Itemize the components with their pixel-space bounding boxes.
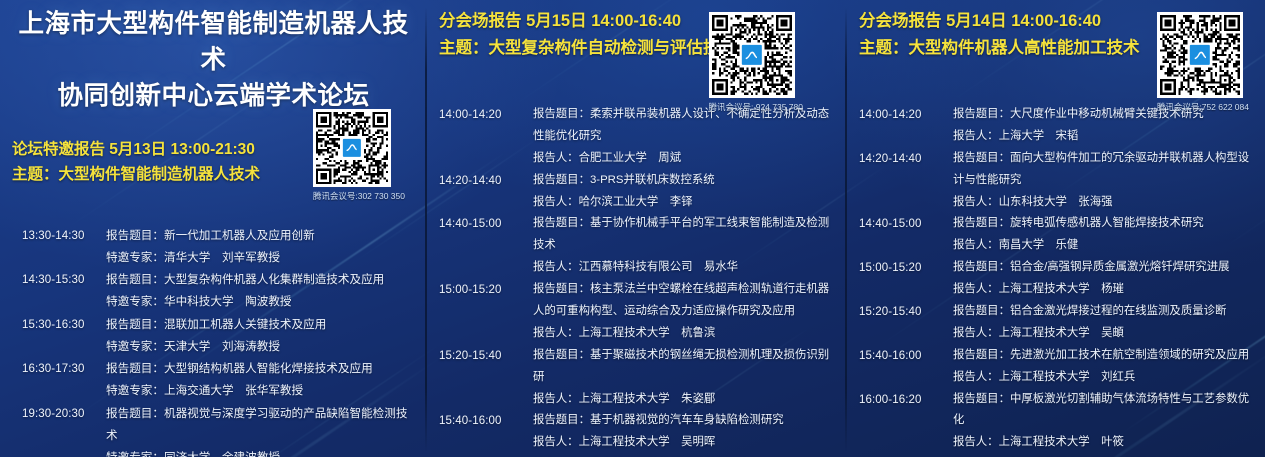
schedule-topic: 报告题目：铝合金/高强钢异质金属激光熔钎焊研究进展 [953,257,1257,279]
qr-code-mid[interactable] [709,12,795,98]
schedule-topic: 报告题目：中厚板激光切割辅助气体流场特性与工艺参数优化 [953,389,1257,433]
schedule-topic: 报告题目：新一代加工机器人及应用创新 [106,225,415,247]
schedule-row: 15:00-15:20报告题目：铝合金/高强钢异质金属激光熔钎焊研究进展报告人：… [859,257,1257,301]
schedule-row: 19:30-20:30报告题目：机器视觉与深度学习驱动的产品缺陷智能检测技术特邀… [12,403,415,457]
schedule-speaker: 报告人：江西慕特科技有限公司 易水华 [533,257,835,279]
right-qr-block: 腾讯会议号:752 622 084 [1157,12,1249,113]
schedule-topic: 报告题目：基于机器视觉的汽车车身缺陷检测研究 [533,410,835,432]
panel-divider-left [425,8,427,451]
schedule-time: 15:30-16:30 [12,314,98,336]
schedule-body: 报告题目：大型复杂构件机器人化集群制造技术及应用特邀专家：华中科技大学 陶波教授 [98,269,415,314]
schedule-row: 14:40-15:00报告题目：旋转电弧传感机器人智能焊接技术研究报告人：南昌大… [859,213,1257,257]
schedule-speaker: 特邀专家：清华大学 刘辛军教授 [106,247,415,269]
schedule-time: 15:40-16:00 [439,410,527,432]
mid-meeting-id: 腾讯会议号: 924 735 780 [709,101,804,113]
schedule-speaker: 报告人：上海工程技术大学 杨璀 [953,279,1257,301]
schedule-row: 14:00-14:20报告题目：柔索并联吊装机器人设计、不确定性分析及动态性能优… [439,104,835,170]
schedule-body: 报告题目：面向大型构件加工的冗余驱动并联机器人构型设计与性能研究报告人：山东科技… [947,148,1257,214]
schedule-body: 报告题目：铝合金/高强钢异质金属激光熔钎焊研究进展报告人：上海工程技术大学 杨璀 [947,257,1257,301]
qr-code-right[interactable] [1157,12,1243,98]
schedule-time: 15:20-15:40 [859,301,947,323]
schedule-body: 报告题目：基于聚磁技术的钢丝绳无损检测机理及损伤识别研报告人：上海工程技术大学 … [527,345,835,411]
schedule-speaker: 报告人：哈尔滨工业大学 李铎 [533,192,835,214]
schedule-time: 15:40-16:00 [859,345,947,367]
schedule-speaker: 特邀专家：华中科技大学 陶波教授 [106,291,415,313]
mid-qr-block: 腾讯会议号: 924 735 780 [709,12,804,113]
schedule-topic: 报告题目：核主泵法兰中空螺栓在线超声检测轨道行走机器人的可重构构型、运动综合及力… [533,279,835,323]
schedule-body: 报告题目：3-PRS并联机床数控系统报告人：哈尔滨工业大学 李铎 [527,170,835,214]
schedule-body: 报告题目：铝合金激光焊接过程的在线监测及质量诊断报告人：上海工程技术大学 吴頔 [947,301,1257,345]
schedule-time: 15:00-15:20 [439,279,527,301]
schedule-speaker: 报告人：上海工程技术大学 刘红兵 [953,367,1257,389]
schedule-speaker: 报告人：合肥工业大学 周斌 [533,148,835,170]
schedule-speaker: 报告人：山东科技大学 张海强 [953,192,1257,214]
schedule-time: 16:00-16:20 [859,389,947,411]
page-title: 上海市大型构件智能制造机器人技术 协同创新中心云端学术论坛 [12,6,415,115]
schedule-time: 16:30-17:30 [12,358,98,380]
schedule-time: 15:20-15:40 [439,345,527,367]
schedule-row: 15:20-15:40报告题目：基于聚磁技术的钢丝绳无损检测机理及损伤识别研报告… [439,345,835,411]
schedule-speaker: 特邀专家：上海交通大学 张华军教授 [106,380,415,402]
schedule-time: 14:40-15:00 [439,213,527,235]
left-session-header: 论坛特邀报告 5月13日 13:00-21:30 主题：大型构件智能制造机器人技… [12,137,415,223]
schedule-time: 14:20-14:40 [859,148,947,170]
schedule-time: 15:00-15:20 [859,257,947,279]
right-panel: 分会场报告 5月14日 14:00-16:40 主题：大型构件机器人高性能加工技… [845,0,1265,457]
left-meeting-id: 腾讯会议号:302 730 350 [313,190,405,202]
qr-code-left[interactable] [313,109,391,187]
schedule-time: 19:30-20:30 [12,403,98,425]
schedule-speaker: 报告人：上海工程技术大学 朱姿郿 [533,389,835,411]
schedule-row: 15:20-15:40报告题目：铝合金激光焊接过程的在线监测及质量诊断报告人：上… [859,301,1257,345]
schedule-row: 16:30-17:30报告题目：大型钢结构机器人智能化焊接技术及应用特邀专家：上… [12,358,415,403]
schedule-row: 13:30-14:30报告题目：新一代加工机器人及应用创新特邀专家：清华大学 刘… [12,225,415,270]
schedule-body: 报告题目：旋转电弧传感机器人智能焊接技术研究报告人：南昌大学 乐健 [947,213,1257,257]
schedule-speaker: 报告人：上海工程技术大学 杭鲁滨 [533,323,835,345]
schedule-topic: 报告题目：3-PRS并联机床数控系统 [533,170,835,192]
schedule-body: 报告题目：先进激光加工技术在航空制造领域的研究及应用报告人：上海工程技术大学 刘… [947,345,1257,389]
mid-session-header: 分会场报告 5月15日 14:00-16:40 主题：大型复杂构件自动检测与评估… [439,8,835,104]
schedule-topic: 报告题目：大型钢结构机器人智能化焊接技术及应用 [106,358,415,380]
tencent-meeting-icon [740,44,762,66]
schedule-time: 14:40-15:00 [859,213,947,235]
schedule-topic: 报告题目：机器视觉与深度学习驱动的产品缺陷智能检测技术 [106,403,415,448]
tencent-meeting-icon [342,137,362,157]
schedule-row: 16:00-16:20报告题目：中厚板激光切割辅助气体流场特性与工艺参数优化报告… [859,389,1257,455]
schedule-time: 14:00-14:20 [859,104,947,126]
schedule-body: 报告题目：混联加工机器人关键技术及应用特邀专家：天津大学 刘海涛教授 [98,314,415,359]
schedule-body: 报告题目：新一代加工机器人及应用创新特邀专家：清华大学 刘辛军教授 [98,225,415,270]
schedule-speaker: 报告人：上海工程技术大学 吴頔 [953,323,1257,345]
schedule-row: 14:20-14:40报告题目：面向大型构件加工的冗余驱动并联机器人构型设计与性… [859,148,1257,214]
schedule-speaker: 特邀专家：天津大学 刘海涛教授 [106,336,415,358]
schedule-topic: 报告题目：基于聚磁技术的钢丝绳无损检测机理及损伤识别研 [533,345,835,389]
schedule-topic: 报告题目：基于协作机械手平台的军工线束智能制造及检测技术 [533,213,835,257]
schedule-topic: 报告题目：铝合金激光焊接过程的在线监测及质量诊断 [953,301,1257,323]
schedule-topic: 报告题目：旋转电弧传感机器人智能焊接技术研究 [953,213,1257,235]
schedule-topic: 报告题目：面向大型构件加工的冗余驱动并联机器人构型设计与性能研究 [953,148,1257,192]
schedule-topic: 报告题目：先进激光加工技术在航空制造领域的研究及应用 [953,345,1257,367]
mid-schedule-list: 14:00-14:20报告题目：柔索并联吊装机器人设计、不确定性分析及动态性能优… [439,104,835,457]
schedule-speaker: 报告人：上海大学 宋韬 [953,126,1257,148]
schedule-row: 15:40-16:00报告题目：基于机器视觉的汽车车身缺陷检测研究报告人：上海工… [439,410,835,454]
schedule-row: 14:30-15:30报告题目：大型复杂构件机器人化集群制造技术及应用特邀专家：… [12,269,415,314]
right-meeting-id: 腾讯会议号:752 622 084 [1157,101,1249,113]
schedule-body: 报告题目：大型钢结构机器人智能化焊接技术及应用特邀专家：上海交通大学 张华军教授 [98,358,415,403]
schedule-body: 报告题目：基于协作机械手平台的军工线束智能制造及检测技术报告人：江西慕特科技有限… [527,213,835,279]
right-schedule-list: 14:00-14:20报告题目：大尺度作业中移动机械臂关键技术研究报告人：上海大… [859,104,1257,457]
schedule-time: 13:30-14:30 [12,225,98,247]
schedule-row: 15:30-16:30报告题目：混联加工机器人关键技术及应用特邀专家：天津大学 … [12,314,415,359]
schedule-time: 14:20-14:40 [439,170,527,192]
panel-divider-right [845,8,847,451]
schedule-row: 14:40-15:00报告题目：基于协作机械手平台的军工线束智能制造及检测技术报… [439,213,835,279]
schedule-speaker: 特邀专家：同济大学 余建波教授 [106,447,415,457]
tencent-meeting-icon [1189,44,1211,66]
schedule-row: 15:00-15:20报告题目：核主泵法兰中空螺栓在线超声检测轨道行走机器人的可… [439,279,835,345]
schedule-topic: 报告题目：混联加工机器人关键技术及应用 [106,314,415,336]
mid-panel: 分会场报告 5月15日 14:00-16:40 主题：大型复杂构件自动检测与评估… [425,0,845,457]
right-session-header: 分会场报告 5月14日 14:00-16:40 主题：大型构件机器人高性能加工技… [859,8,1257,104]
schedule-speaker: 报告人：上海工程技术大学 吴明晖 [533,432,835,454]
schedule-topic: 报告题目：大型复杂构件机器人化集群制造技术及应用 [106,269,415,291]
schedule-body: 报告题目：柔索并联吊装机器人设计、不确定性分析及动态性能优化研究报告人：合肥工业… [527,104,835,170]
left-schedule-list: 13:30-14:30报告题目：新一代加工机器人及应用创新特邀专家：清华大学 刘… [12,225,415,457]
forum-poster: 上海市大型构件智能制造机器人技术 协同创新中心云端学术论坛 论坛特邀报告 5月1… [0,0,1265,457]
schedule-body: 报告题目：基于机器视觉的汽车车身缺陷检测研究报告人：上海工程技术大学 吴明晖 [527,410,835,454]
schedule-speaker: 报告人：上海工程技术大学 叶筱 [953,432,1257,454]
schedule-row: 15:40-16:00报告题目：先进激光加工技术在航空制造领域的研究及应用报告人… [859,345,1257,389]
schedule-time: 14:30-15:30 [12,269,98,291]
schedule-body: 报告题目：机器视觉与深度学习驱动的产品缺陷智能检测技术特邀专家：同济大学 余建波… [98,403,415,457]
schedule-speaker: 报告人：南昌大学 乐健 [953,235,1257,257]
schedule-body: 报告题目：中厚板激光切割辅助气体流场特性与工艺参数优化报告人：上海工程技术大学 … [947,389,1257,455]
schedule-body: 报告题目：核主泵法兰中空螺栓在线超声检测轨道行走机器人的可重构构型、运动综合及力… [527,279,835,345]
left-panel: 上海市大型构件智能制造机器人技术 协同创新中心云端学术论坛 论坛特邀报告 5月1… [0,0,425,457]
left-qr-block: 腾讯会议号:302 730 350 [313,109,405,202]
schedule-row: 14:20-14:40报告题目：3-PRS并联机床数控系统报告人：哈尔滨工业大学… [439,170,835,214]
main-title-line-1: 上海市大型构件智能制造机器人技术 [18,10,408,74]
schedule-time: 14:00-14:20 [439,104,527,126]
